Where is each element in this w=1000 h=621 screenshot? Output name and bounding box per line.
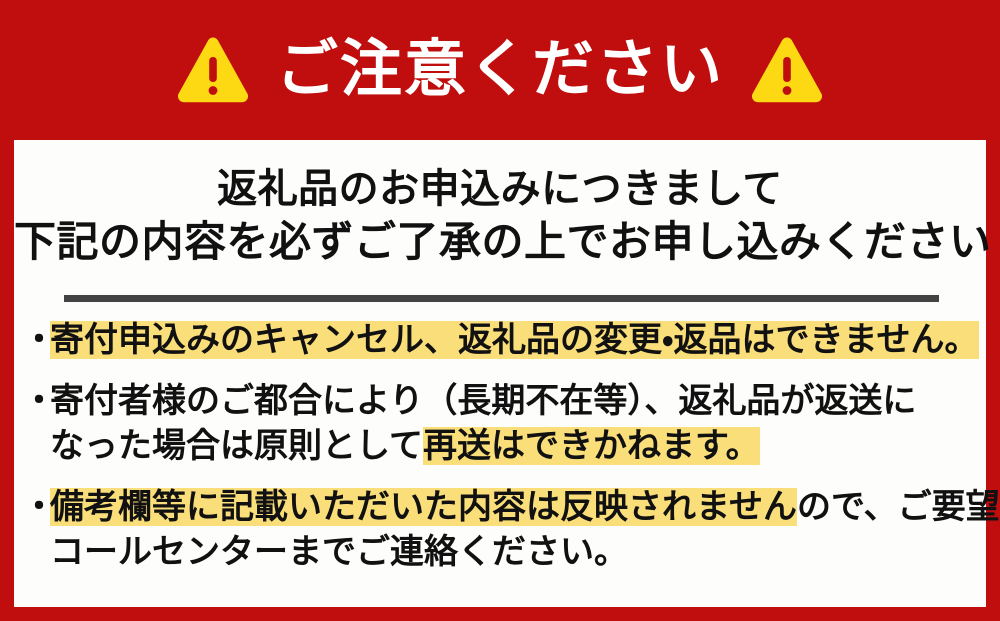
warning-triangle-icon (176, 36, 250, 104)
section-divider (64, 295, 939, 302)
notice-item: ・寄付者様のご都合により（長期不在等）、返礼品が返送になった場合は原則として再送… (22, 379, 982, 469)
notice-line: 寄付申込みのキャンセル、返礼品の変更・返品はできません。 (50, 318, 982, 363)
highlighted-text: 寄付申込みのキャンセル、返礼品の変更・返品はできません。 (50, 321, 979, 359)
warning-triangle-icon (750, 36, 824, 104)
notice-line: 備考欄等に記載いただいた内容は反映されませんので、ご要望がある際は (50, 485, 1000, 530)
notice-text: コールセンターまでご連絡ください。 (50, 533, 628, 571)
banner-header: ご注意ください (0, 0, 1000, 140)
notice-panel: 返礼品のお申込みにつきまして 下記の内容を必ずご了承の上でお申し込みください ・… (14, 140, 986, 607)
notice-item: ・寄付申込みのキャンセル、返礼品の変更・返品はできません。 (22, 318, 982, 363)
highlighted-text: 再送はできかねます。 (423, 427, 760, 465)
notice-text: なった場合は原則として (50, 427, 423, 465)
banner-title: ご注意ください (276, 39, 724, 101)
bullet-marker: ・ (22, 318, 50, 363)
notice-item-body: 寄付申込みのキャンセル、返礼品の変更・返品はできません。 (50, 318, 982, 363)
subtitle-line-1: 返礼品のお申込みにつきまして (14, 164, 986, 215)
notice-text: ので、ご要望がある際は (797, 488, 1000, 526)
notice-item-body: 寄付者様のご都合により（長期不在等）、返礼品が返送になった場合は原則として再送は… (50, 379, 982, 469)
bullet-marker: ・ (22, 379, 50, 424)
notice-text: 寄付者様のご都合により（長期不在等）、返礼品が返送に (50, 382, 916, 420)
subtitle-block: 返礼品のお申込みにつきまして 下記の内容を必ずご了承の上でお申し込みください (14, 140, 986, 269)
highlighted-text: 備考欄等に記載いただいた内容は反映されません (50, 488, 797, 526)
notice-list: ・寄付申込みのキャンセル、返礼品の変更・返品はできません。・寄付者様のご都合によ… (22, 318, 982, 590)
notice-banner: ご注意ください 返礼品のお申込みにつきまして 下記の内容を必ずご了承の上でお申し… (0, 0, 1000, 621)
notice-item: ・備考欄等に記載いただいた内容は反映されませんので、ご要望がある際はコールセンタ… (22, 485, 982, 575)
subtitle-line-2: 下記の内容を必ずご了承の上でお申し込みください (14, 215, 986, 269)
notice-item-body: 備考欄等に記載いただいた内容は反映されませんので、ご要望がある際はコールセンター… (50, 485, 1000, 575)
bullet-marker: ・ (22, 485, 50, 530)
notice-line: コールセンターまでご連絡ください。 (50, 530, 1000, 575)
notice-line: なった場合は原則として再送はできかねます。 (50, 424, 982, 469)
notice-line: 寄付者様のご都合により（長期不在等）、返礼品が返送に (50, 379, 982, 424)
